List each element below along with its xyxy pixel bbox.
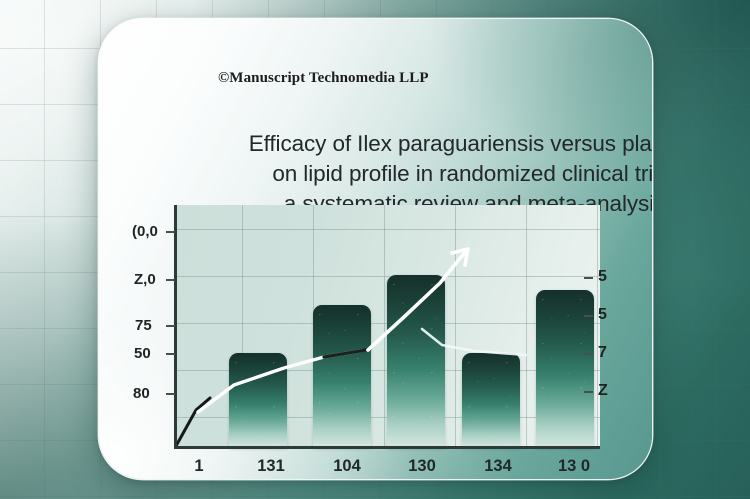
y-tick [166, 231, 175, 233]
secondary-line [422, 329, 526, 355]
right-axis-label-3: Z [598, 382, 608, 400]
y-tick [166, 353, 175, 355]
x-axis-label-5: 13 0 [558, 457, 590, 476]
title-line-2: on lipid profile in randomized clinical … [218, 159, 652, 189]
bar-chart: (0,0 Z,0 75 50 80 5 5 7 Z 1 131 104 130 … [174, 205, 600, 448]
x-axis-label-0: 1 [194, 457, 203, 476]
title-line-1: Efficacy of Ilex paraguariensis versus p… [218, 129, 652, 159]
right-axis-tick [584, 353, 593, 355]
trend-line-white-rise [368, 251, 466, 350]
right-axis-tick [584, 315, 593, 317]
right-axis-tick [584, 391, 593, 393]
x-axis-line [174, 446, 600, 449]
right-axis-label-0: 5 [598, 268, 607, 286]
right-axis-tick [584, 277, 593, 279]
x-axis-label-2: 104 [333, 457, 361, 476]
x-axis-label-4: 134 [484, 457, 512, 476]
right-axis-label-1: 5 [598, 306, 607, 324]
copyright-notice: ©Manuscript Technomedia LLP [218, 70, 429, 87]
trend-line-dark-mid [324, 349, 370, 357]
trend-line-group [174, 205, 600, 448]
x-axis-label-3: 130 [408, 457, 436, 476]
right-axis-label-2: 7 [598, 344, 607, 362]
y-tick [166, 279, 175, 281]
y-tick [166, 325, 175, 327]
trend-line-white [198, 351, 360, 412]
x-axis-label-1: 131 [257, 457, 285, 476]
y-tick [166, 393, 175, 395]
